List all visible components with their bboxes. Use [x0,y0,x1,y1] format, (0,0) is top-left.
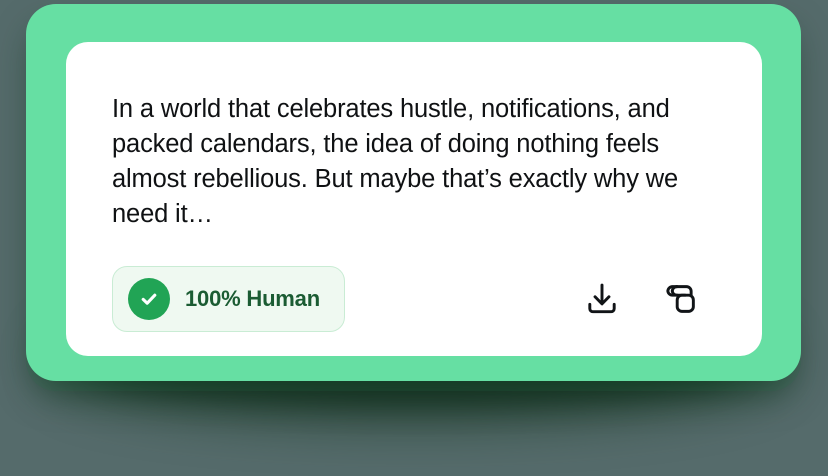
generated-text: In a world that celebrates hustle, notif… [112,92,692,232]
result-card: In a world that celebrates hustle, notif… [66,42,762,356]
check-circle-icon [128,278,170,320]
copy-button[interactable] [660,278,702,320]
action-buttons [581,278,716,320]
status-badge-label: 100% Human [185,286,320,312]
card-footer: 100% Human [112,266,716,332]
download-icon [583,280,621,318]
screen: In a world that celebrates hustle, notif… [0,0,828,476]
green-frame-card: In a world that celebrates hustle, notif… [26,4,801,381]
status-badge: 100% Human [112,266,345,332]
download-button[interactable] [581,278,623,320]
copy-icon [662,280,700,318]
